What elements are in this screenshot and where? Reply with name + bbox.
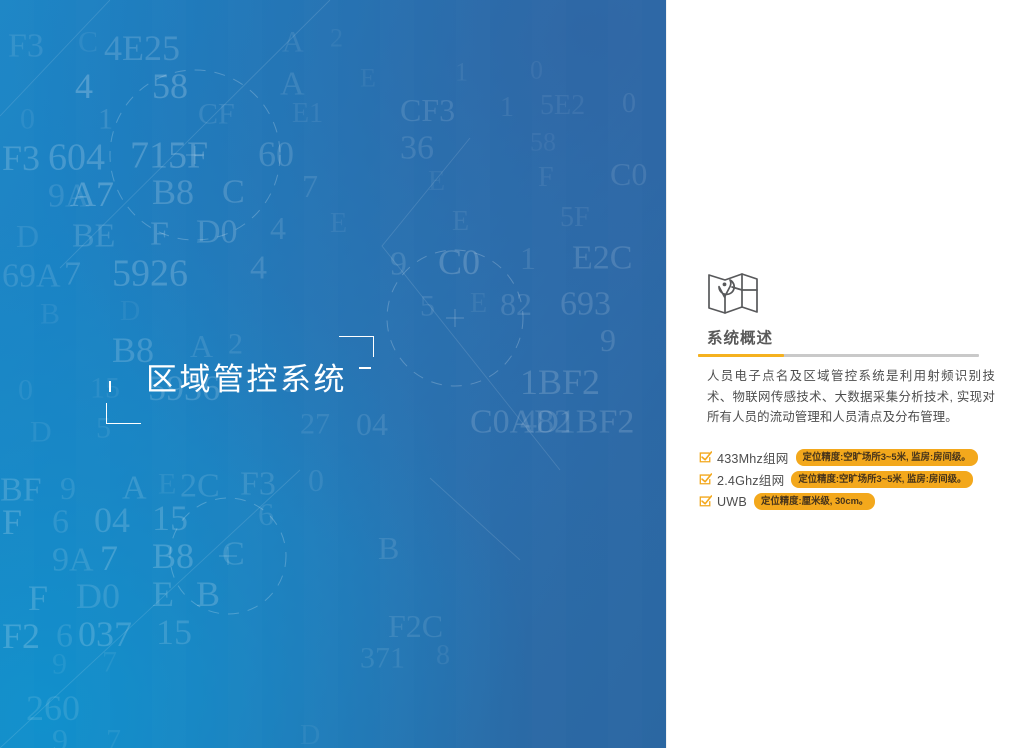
hex-glyph: 15: [152, 498, 188, 538]
hex-glyph: A7: [70, 174, 114, 214]
hex-glyph: 0: [530, 55, 543, 84]
hex-glyph: B8: [152, 536, 194, 576]
hex-glyph: 04: [94, 500, 130, 540]
hex-glyph: 5926: [112, 253, 188, 295]
hex-glyph: 9A: [52, 542, 94, 579]
hex-glyph: 4: [250, 250, 267, 287]
content-panel: 系统概述 人员电子点名及区域管控系统是利用射频识别技术、物联网传感技术、大数据采…: [697, 0, 997, 748]
hex-glyph: F: [28, 578, 48, 618]
hex-glyph: E2C: [572, 240, 632, 277]
hex-glyph: 9: [390, 246, 407, 283]
hex-glyph: 1: [500, 92, 514, 123]
hex-glyph: 82: [500, 286, 532, 322]
page-title: 区域管控系统: [146, 354, 347, 399]
hex-glyph: D: [16, 218, 39, 254]
hex-glyph: CF3: [400, 92, 455, 128]
hex-glyph: F2C: [388, 608, 443, 644]
section-paragraph: 人员电子点名及区域管控系统是利用射频识别技术、物联网传感技术、大数据采集分析技术…: [707, 366, 995, 428]
hex-glyph: D0: [196, 214, 238, 251]
hex-glyph: F3: [8, 28, 44, 65]
section-rule-accent: [698, 354, 784, 357]
hex-glyph: C: [222, 174, 245, 211]
hex-glyph: 1: [455, 57, 468, 86]
hex-glyph: 7: [100, 538, 118, 578]
feature-badge: 定位精度:厘米级, 30cm。: [754, 493, 875, 510]
hex-glyph: 482: [520, 404, 571, 441]
hex-glyph: 1: [98, 102, 113, 135]
panel-divider: [666, 0, 667, 748]
hex-glyph: 6: [52, 504, 69, 541]
hex-glyph: 7: [102, 645, 117, 678]
hex-glyph: 8: [436, 640, 450, 671]
hex-glyph: 0: [20, 102, 35, 135]
hex-glyph: B: [378, 530, 399, 566]
hex-glyph: 2: [330, 23, 343, 52]
hex-glyph: 36: [400, 130, 434, 167]
hex-glyph: F3: [2, 138, 40, 178]
hex-glyph: 4: [270, 210, 286, 246]
hex-glyph: F: [538, 162, 554, 193]
hex-glyph: 5E2: [540, 90, 585, 121]
feature-badge: 定位精度:空旷场所3~5米, 监房:房间级。: [796, 449, 978, 466]
section-header: 系统概述: [698, 329, 983, 357]
hex-glyph: 0: [18, 373, 33, 406]
hex-glyph: 9: [600, 322, 616, 358]
hex-glyph: 69A: [2, 258, 61, 295]
hex-glyph: D0: [76, 576, 120, 616]
feature-label: 2.4Ghz组网: [717, 470, 784, 489]
hex-glyph: D: [30, 415, 52, 448]
hero-title-block: 区域管控系统: [106, 336, 374, 424]
hex-glyph: 9: [60, 470, 76, 506]
hex-glyph: B8: [152, 172, 194, 212]
checkbox-check-icon: [699, 495, 712, 508]
hex-glyph: E1: [292, 98, 323, 129]
hex-glyph: 1BF2: [520, 362, 600, 402]
hex-glyph: F: [2, 502, 22, 542]
hex-glyph: 0: [622, 88, 636, 119]
hex-glyph: 371: [360, 641, 405, 674]
hex-glyph: 60: [258, 134, 294, 174]
feature-list-item[interactable]: 2.4Ghz组网定位精度:空旷场所3~5米, 监房:房间级。: [697, 469, 997, 490]
hex-glyph: E: [158, 467, 176, 500]
feature-list: 433Mhz组网定位精度:空旷场所3~5米, 监房:房间级。2.4Ghz组网定位…: [697, 447, 997, 513]
hex-glyph: 5F: [560, 202, 590, 233]
section-rule: [698, 354, 979, 357]
hero-panel: F3C4E25A2458AE1001CFE1CF315E20F3604715F6…: [0, 0, 666, 748]
hex-glyph: D: [300, 720, 320, 748]
hex-glyph: 7: [302, 168, 318, 204]
hex-glyph: 1: [520, 240, 536, 276]
hex-glyph: E: [330, 208, 347, 239]
hex-glyph: 9: [52, 647, 67, 680]
checkbox-check-icon: [699, 473, 712, 486]
feature-badge: 定位精度:空旷场所3~5米, 监房:房间级。: [791, 471, 973, 488]
feature-list-item[interactable]: 433Mhz组网定位精度:空旷场所3~5米, 监房:房间级。: [697, 447, 997, 468]
crosshair-icon: [446, 309, 464, 327]
hex-glyph: 9: [52, 722, 68, 748]
hex-glyph: E: [428, 166, 445, 197]
slide-page: F3C4E25A2458AE1001CFE1CF315E20F3604715F6…: [0, 0, 1033, 748]
hex-glyph: F2: [2, 616, 40, 656]
tick-mark-right: [359, 367, 371, 369]
feature-label: UWB: [717, 495, 747, 509]
hex-glyph: 58: [530, 127, 556, 156]
map-pin-icon: [706, 270, 760, 316]
hex-glyph: F: [150, 216, 169, 253]
section-title: 系统概述: [698, 329, 983, 349]
hex-glyph: 4E25: [104, 28, 180, 68]
hex-glyph: B: [196, 574, 220, 614]
hex-glyph: D: [120, 296, 140, 327]
hex-glyph: B: [40, 297, 60, 330]
hex-glyph: E: [452, 206, 469, 237]
hex-glyph: 58: [152, 66, 188, 106]
hex-glyph: E: [470, 288, 487, 319]
checkbox-check-icon: [699, 451, 712, 464]
hex-glyph: 5: [420, 289, 435, 322]
hex-glyph: C: [222, 536, 245, 573]
hex-glyph: 15: [156, 612, 192, 652]
hex-glyph: E: [360, 63, 376, 92]
tick-mark-left: [109, 381, 111, 392]
hex-glyph: 693: [560, 286, 611, 323]
hex-glyph: 0: [308, 462, 324, 498]
hex-glyph: E: [152, 574, 174, 614]
feature-label: 433Mhz组网: [717, 448, 789, 467]
hex-glyph: BE: [72, 218, 115, 255]
feature-list-item[interactable]: UWB定位精度:厘米级, 30cm。: [697, 491, 997, 512]
hex-glyph: 604: [48, 137, 105, 179]
hex-glyph: C0: [438, 242, 480, 282]
hex-glyph: 4: [75, 66, 93, 106]
corner-bracket-bottom-left: [106, 403, 141, 424]
hex-glyph: A: [282, 25, 304, 58]
hex-glyph: 715F: [130, 135, 208, 177]
hex-glyph: C0: [610, 156, 647, 192]
hex-glyph: 7: [106, 723, 121, 748]
